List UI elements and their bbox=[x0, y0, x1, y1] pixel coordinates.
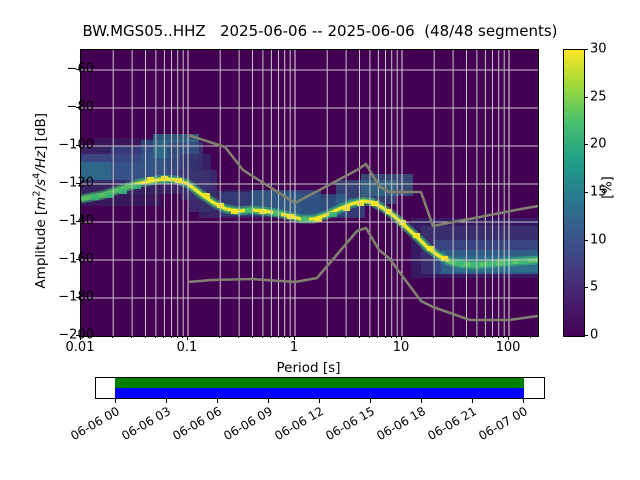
x-tick-minor bbox=[155, 336, 156, 338]
colorbar-tick-label: 30 bbox=[590, 42, 607, 57]
x-tick-minor bbox=[145, 336, 146, 338]
y-tick-label: −180 bbox=[58, 290, 94, 305]
timeline-tick bbox=[370, 399, 371, 403]
ppsd-histogram bbox=[81, 134, 538, 278]
x-tick-minor bbox=[433, 336, 434, 338]
x-tick-minor bbox=[369, 336, 370, 338]
x-tick-minor bbox=[484, 336, 485, 338]
x-tick-minor bbox=[270, 336, 271, 338]
x-tick-label: 0.01 bbox=[66, 340, 95, 355]
y-tick-label: −80 bbox=[67, 100, 94, 115]
y-tick-label: −140 bbox=[58, 214, 94, 229]
x-tick-minor bbox=[171, 336, 172, 338]
x-tick-minor bbox=[278, 336, 279, 338]
x-tick-minor bbox=[377, 336, 378, 338]
timeline-tick bbox=[319, 399, 320, 403]
x-tick-minor bbox=[498, 336, 499, 338]
x-tick-minor bbox=[289, 336, 290, 338]
x-tick-label: 100 bbox=[496, 340, 521, 355]
ppsd-figure: BW.MGS05..HHZ 2025-06-06 -- 2025-06-06 (… bbox=[0, 0, 640, 480]
x-tick-minor bbox=[284, 336, 285, 338]
x-tick-minor bbox=[177, 336, 178, 338]
y-axis-label: Amplitude [m2/s4/Hz] [dB] bbox=[31, 81, 49, 321]
timeline-tick bbox=[523, 399, 524, 403]
colorbar-tick-label: 5 bbox=[590, 280, 598, 295]
page-title: BW.MGS05..HHZ 2025-06-06 -- 2025-06-06 (… bbox=[0, 22, 640, 40]
timeline-tick bbox=[268, 399, 269, 403]
x-tick-minor bbox=[345, 336, 346, 338]
x-tick-minor bbox=[112, 336, 113, 338]
colorbar-tick-label: 0 bbox=[590, 328, 598, 343]
colorbar-tick-label: 20 bbox=[590, 137, 607, 152]
ppsd-axes[interactable] bbox=[80, 49, 539, 337]
x-tick-label: 0.1 bbox=[177, 340, 198, 355]
colorbar-tick-label: 10 bbox=[590, 233, 607, 248]
y-tick-label: −60 bbox=[67, 62, 94, 77]
y-tick-label: −100 bbox=[58, 138, 94, 153]
x-tick-minor bbox=[238, 336, 239, 338]
x-tick-minor bbox=[452, 336, 453, 338]
x-tick-minor bbox=[385, 336, 386, 338]
timeline-tick bbox=[472, 399, 473, 403]
colorbar-tick bbox=[584, 335, 588, 336]
colorbar-label: [%] bbox=[601, 158, 616, 218]
x-tick-minor bbox=[326, 336, 327, 338]
timeline-tick bbox=[166, 399, 167, 403]
colorbar-tick bbox=[584, 287, 588, 288]
coverage-timeline[interactable] bbox=[95, 377, 545, 399]
x-tick-minor bbox=[163, 336, 164, 338]
x-axis-label: Period [s] bbox=[80, 360, 537, 376]
x-tick-label: 1 bbox=[290, 340, 298, 355]
x-tick-minor bbox=[503, 336, 504, 338]
x-tick-minor bbox=[476, 336, 477, 338]
timeline-tick bbox=[115, 399, 116, 403]
timeline-available-bar bbox=[115, 388, 524, 398]
x-tick-minor bbox=[492, 336, 493, 338]
x-tick-minor bbox=[219, 336, 220, 338]
colorbar-tick bbox=[584, 192, 588, 193]
colorbar-tick bbox=[584, 144, 588, 145]
x-tick-minor bbox=[466, 336, 467, 338]
y-tick-label: −120 bbox=[58, 176, 94, 191]
x-tick-minor bbox=[131, 336, 132, 338]
x-tick-minor bbox=[396, 336, 397, 338]
ppsd-plot-svg bbox=[81, 50, 538, 336]
x-tick-minor bbox=[182, 336, 183, 338]
colorbar-tick-label: 25 bbox=[590, 90, 607, 105]
timeline-tick bbox=[217, 399, 218, 403]
y-tick-label: −160 bbox=[58, 252, 94, 267]
colorbar-tick bbox=[584, 240, 588, 241]
colorbar[interactable] bbox=[563, 49, 585, 337]
x-tick-minor bbox=[359, 336, 360, 338]
x-tick-minor bbox=[252, 336, 253, 338]
x-tick-minor bbox=[262, 336, 263, 338]
timeline-used-bar bbox=[115, 378, 524, 388]
x-tick-minor bbox=[530, 336, 531, 338]
x-tick-minor bbox=[391, 336, 392, 338]
colorbar-tick bbox=[584, 49, 588, 50]
x-tick-label: 10 bbox=[393, 340, 410, 355]
timeline-tick bbox=[421, 399, 422, 403]
colorbar-tick bbox=[584, 97, 588, 98]
